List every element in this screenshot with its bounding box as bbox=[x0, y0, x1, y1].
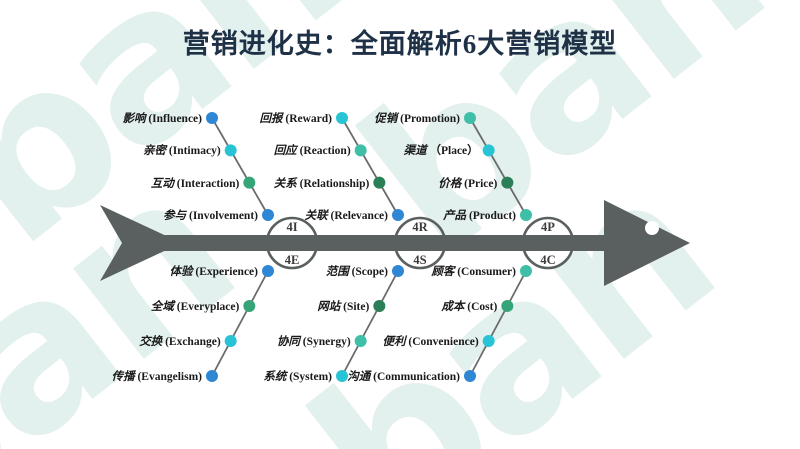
branch-label-en: (Experience) bbox=[193, 266, 258, 278]
branch-label-cn: 全域 bbox=[151, 301, 174, 313]
branch-line-4s bbox=[342, 271, 398, 376]
branch-label-cn: 体验 bbox=[170, 266, 193, 278]
branch-label-en: (Influence) bbox=[145, 113, 202, 125]
branch-label-cn: 价格 bbox=[438, 178, 461, 190]
branch-label: 回报 (Reward) bbox=[260, 110, 333, 126]
branch-dot bbox=[206, 370, 218, 382]
fish-eye-icon bbox=[645, 221, 659, 235]
branch-label-cn: 系统 bbox=[263, 371, 286, 383]
branch-label: 顾客 (Consumer) bbox=[431, 263, 516, 279]
branch-label-cn: 渠道 bbox=[404, 145, 427, 157]
branch-line-4e bbox=[212, 271, 268, 376]
branch-dot bbox=[243, 177, 255, 189]
branch-label: 协同 (Synergy) bbox=[277, 333, 351, 349]
branch-dot bbox=[483, 144, 495, 156]
branch-label: 回应 (Reaction) bbox=[274, 142, 351, 158]
branch-dot bbox=[206, 112, 218, 124]
branch-label-en: (Reward) bbox=[283, 113, 333, 125]
branch-label-en: (Scope) bbox=[349, 266, 388, 278]
branch-label-cn: 产品 bbox=[443, 210, 466, 222]
branch-label-cn: 回报 bbox=[260, 113, 283, 125]
branch-dot bbox=[355, 335, 367, 347]
model-node-bottom-label: 4S bbox=[413, 253, 426, 267]
branch-label: 成本 (Cost) bbox=[441, 298, 497, 314]
branch-label-cn: 范围 bbox=[326, 266, 349, 278]
branch-label: 关系 (Relationship) bbox=[274, 175, 370, 191]
branch-label-en: (Everyplace) bbox=[174, 301, 239, 313]
model-node-bottom-label: 4E bbox=[285, 253, 300, 267]
branch-label-cn: 成本 bbox=[441, 301, 464, 313]
branch-dot bbox=[355, 144, 367, 156]
branch-label-en: (Synergy) bbox=[300, 336, 351, 348]
branch-label: 全域 (Everyplace) bbox=[151, 298, 239, 314]
branch-label-en: (Relationship) bbox=[297, 178, 370, 190]
branch-dot bbox=[262, 209, 274, 221]
branch-label: 价格 (Price) bbox=[438, 175, 497, 191]
branch-label-cn: 互动 bbox=[151, 178, 174, 190]
branch-label: 网站 (Site) bbox=[317, 298, 369, 314]
branch-line-4r bbox=[342, 118, 398, 215]
branch-label-cn: 参与 bbox=[163, 210, 186, 222]
branch-label: 沟通 (Communication) bbox=[347, 368, 460, 384]
branch-label-cn: 影响 bbox=[122, 113, 145, 125]
branch-dot bbox=[520, 265, 532, 277]
branch-label: 传播 (Evangelism) bbox=[112, 368, 202, 384]
branch-label: 交换 (Exchange) bbox=[139, 333, 220, 349]
branch-label: 参与 (Involvement) bbox=[163, 207, 258, 223]
branch-label-cn: 回应 bbox=[274, 145, 297, 157]
branch-label-en: （Place） bbox=[427, 145, 479, 157]
branch-line-4i bbox=[212, 118, 268, 215]
branch-dot bbox=[392, 209, 404, 221]
branch-dot bbox=[336, 370, 348, 382]
branch-label: 渠道 （Place） bbox=[404, 142, 479, 158]
branch-dot bbox=[373, 177, 385, 189]
branch-label-cn: 传播 bbox=[112, 371, 135, 383]
branch-label: 系统 (System) bbox=[263, 368, 332, 384]
branch-label: 便利 (Convenience) bbox=[383, 333, 479, 349]
branch-label-en: (Price) bbox=[461, 178, 497, 190]
branch-label: 范围 (Scope) bbox=[326, 263, 388, 279]
branch-label-en: (Product) bbox=[466, 210, 516, 222]
branch-label: 产品 (Product) bbox=[443, 207, 516, 223]
branch-label-en: (Promotion) bbox=[397, 113, 460, 125]
model-node-bottom-label: 4C bbox=[540, 253, 555, 267]
page-title: 营销进化史：全面解析6大营销模型 bbox=[0, 22, 800, 61]
branch-label-cn: 协同 bbox=[277, 336, 300, 348]
branch-label-en: (Site) bbox=[340, 301, 369, 313]
branch-dot bbox=[392, 265, 404, 277]
branch-label-en: (Evangelism) bbox=[135, 371, 202, 383]
branch-label: 体验 (Experience) bbox=[170, 263, 258, 279]
model-node-top-label: 4R bbox=[412, 220, 428, 234]
fish-head-arrow bbox=[604, 200, 690, 286]
branch-label-en: (Consumer) bbox=[454, 266, 516, 278]
branch-label-en: (Reaction) bbox=[297, 145, 351, 157]
model-node-top-label: 4P bbox=[541, 220, 555, 234]
branch-label-cn: 关系 bbox=[274, 178, 297, 190]
branch-label: 影响 (Influence) bbox=[122, 110, 202, 126]
branch-label-en: (Communication) bbox=[370, 371, 460, 383]
branch-label-cn: 沟通 bbox=[347, 371, 370, 383]
branch-dot bbox=[336, 112, 348, 124]
branch-label-cn: 便利 bbox=[383, 336, 406, 348]
branch-label-en: (Intimacy) bbox=[166, 145, 221, 157]
branch-label-cn: 交换 bbox=[139, 336, 162, 348]
branch-label-en: (Involvement) bbox=[186, 210, 258, 222]
branch-label-cn: 促销 bbox=[374, 113, 397, 125]
branch-dot bbox=[520, 209, 532, 221]
model-node-top-label: 4I bbox=[286, 220, 297, 234]
branch-dot bbox=[501, 177, 513, 189]
branch-dot bbox=[262, 265, 274, 277]
branch-label-cn: 网站 bbox=[317, 301, 340, 313]
branch-label: 互动 (Interaction) bbox=[151, 175, 239, 191]
branch-dot bbox=[243, 300, 255, 312]
branch-label-cn: 亲密 bbox=[143, 145, 166, 157]
branch-label-en: (Cost) bbox=[464, 301, 497, 313]
branch-dot bbox=[464, 112, 476, 124]
branch-label-en: (Convenience) bbox=[406, 336, 479, 348]
branch-line-4c bbox=[470, 271, 526, 376]
branch-dot bbox=[225, 335, 237, 347]
fishbone-spine bbox=[150, 235, 605, 251]
branch-label-en: (Relevance) bbox=[328, 210, 388, 222]
branch-label-en: (System) bbox=[286, 371, 332, 383]
branch-label: 关联 (Relevance) bbox=[305, 207, 388, 223]
branch-label-cn: 关联 bbox=[305, 210, 328, 222]
branch-label-en: (Interaction) bbox=[174, 178, 239, 190]
branch-dot bbox=[225, 144, 237, 156]
branch-label-cn: 顾客 bbox=[431, 266, 454, 278]
branch-dot bbox=[483, 335, 495, 347]
branch-dot bbox=[501, 300, 513, 312]
branch-dot bbox=[464, 370, 476, 382]
branch-label: 亲密 (Intimacy) bbox=[143, 142, 221, 158]
branch-label-en: (Exchange) bbox=[162, 336, 220, 348]
branch-label: 促销 (Promotion) bbox=[374, 110, 460, 126]
branch-line-4p bbox=[470, 118, 526, 215]
branch-dot bbox=[373, 300, 385, 312]
slide-canvas: ban ban ban ban 营销进化史：全面解析6大营销模型 4I4E4R4… bbox=[0, 0, 800, 449]
